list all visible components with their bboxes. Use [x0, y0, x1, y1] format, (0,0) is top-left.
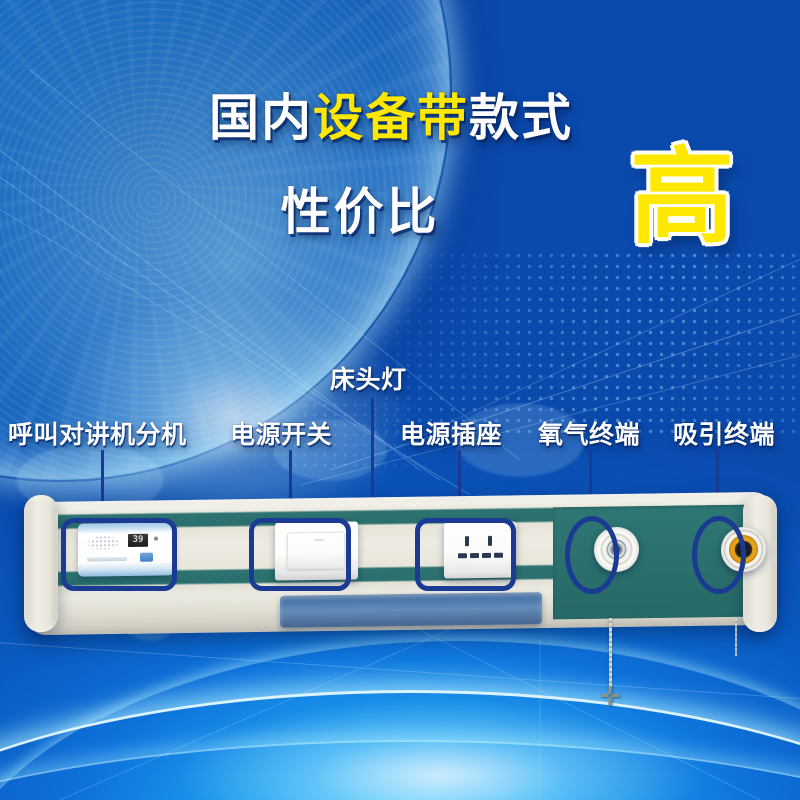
headline-line-1: 国内设备带款式	[209, 90, 591, 146]
headline-block: 国内设备带款式 性价比 高	[0, 78, 800, 260]
highlight-box-power-switch	[249, 518, 351, 591]
headline-line-2: 性价比	[281, 172, 440, 244]
headline-part-2: 设备带	[313, 90, 469, 146]
bed-lamp-cover[interactable]	[280, 592, 542, 628]
headline-line-2-row: 性价比 高	[0, 168, 800, 260]
callout-label-power-switch: 电源开关	[230, 415, 332, 451]
callout-label-suction: 吸引终端	[673, 415, 775, 451]
pull-cord[interactable]	[609, 618, 612, 690]
callout-label-oxygen: 氧气终端	[538, 415, 640, 451]
headline-emphasis: 高	[630, 146, 734, 250]
pull-cord-secondary[interactable]	[735, 618, 737, 656]
highlight-box-power-socket	[415, 518, 516, 591]
callout-label-bed-lamp: 床头灯	[330, 360, 407, 396]
pull-cord-weight-icon: ✛	[597, 683, 623, 709]
callout-label-power-socket: 电源插座	[400, 415, 502, 451]
headline-part-1: 国内	[209, 90, 313, 146]
panel-end-cap-left	[24, 495, 58, 632]
headline-part-3: 款式	[469, 90, 573, 146]
highlight-box-intercom	[61, 518, 177, 591]
bottom-glow	[180, 700, 700, 800]
callout-label-intercom: 呼叫对讲机分机	[8, 415, 187, 451]
highlight-circle-suction	[692, 516, 746, 594]
highlight-circle-oxygen	[565, 516, 619, 594]
